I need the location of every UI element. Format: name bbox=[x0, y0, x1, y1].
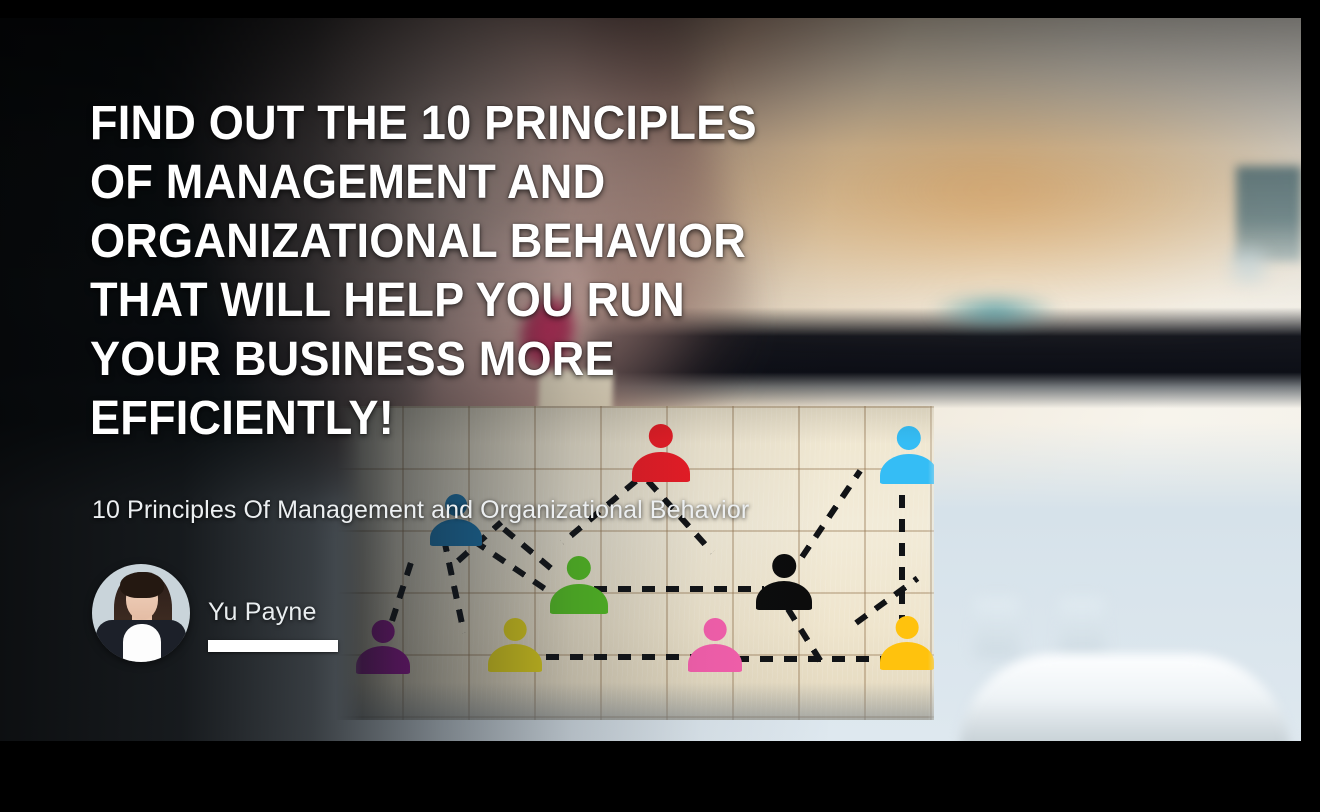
author-underline-rule bbox=[208, 640, 338, 652]
avatar-collar bbox=[123, 624, 161, 662]
page-title: FIND OUT THE 10 PRINCIPLES OF MANAGEMENT… bbox=[90, 94, 842, 448]
letterbox-bottom bbox=[0, 741, 1320, 812]
letterbox-top bbox=[0, 0, 1320, 18]
author-block: Yu Payne bbox=[92, 564, 512, 664]
presentation-slide: FIND OUT THE 10 PRINCIPLES OF MANAGEMENT… bbox=[0, 0, 1320, 812]
avatar-hair-front bbox=[120, 572, 164, 598]
page-subtitle: 10 Principles Of Management and Organiza… bbox=[92, 494, 992, 526]
letterbox-right bbox=[1301, 0, 1320, 812]
author-name: Yu Payne bbox=[208, 598, 317, 627]
avatar bbox=[92, 564, 190, 662]
